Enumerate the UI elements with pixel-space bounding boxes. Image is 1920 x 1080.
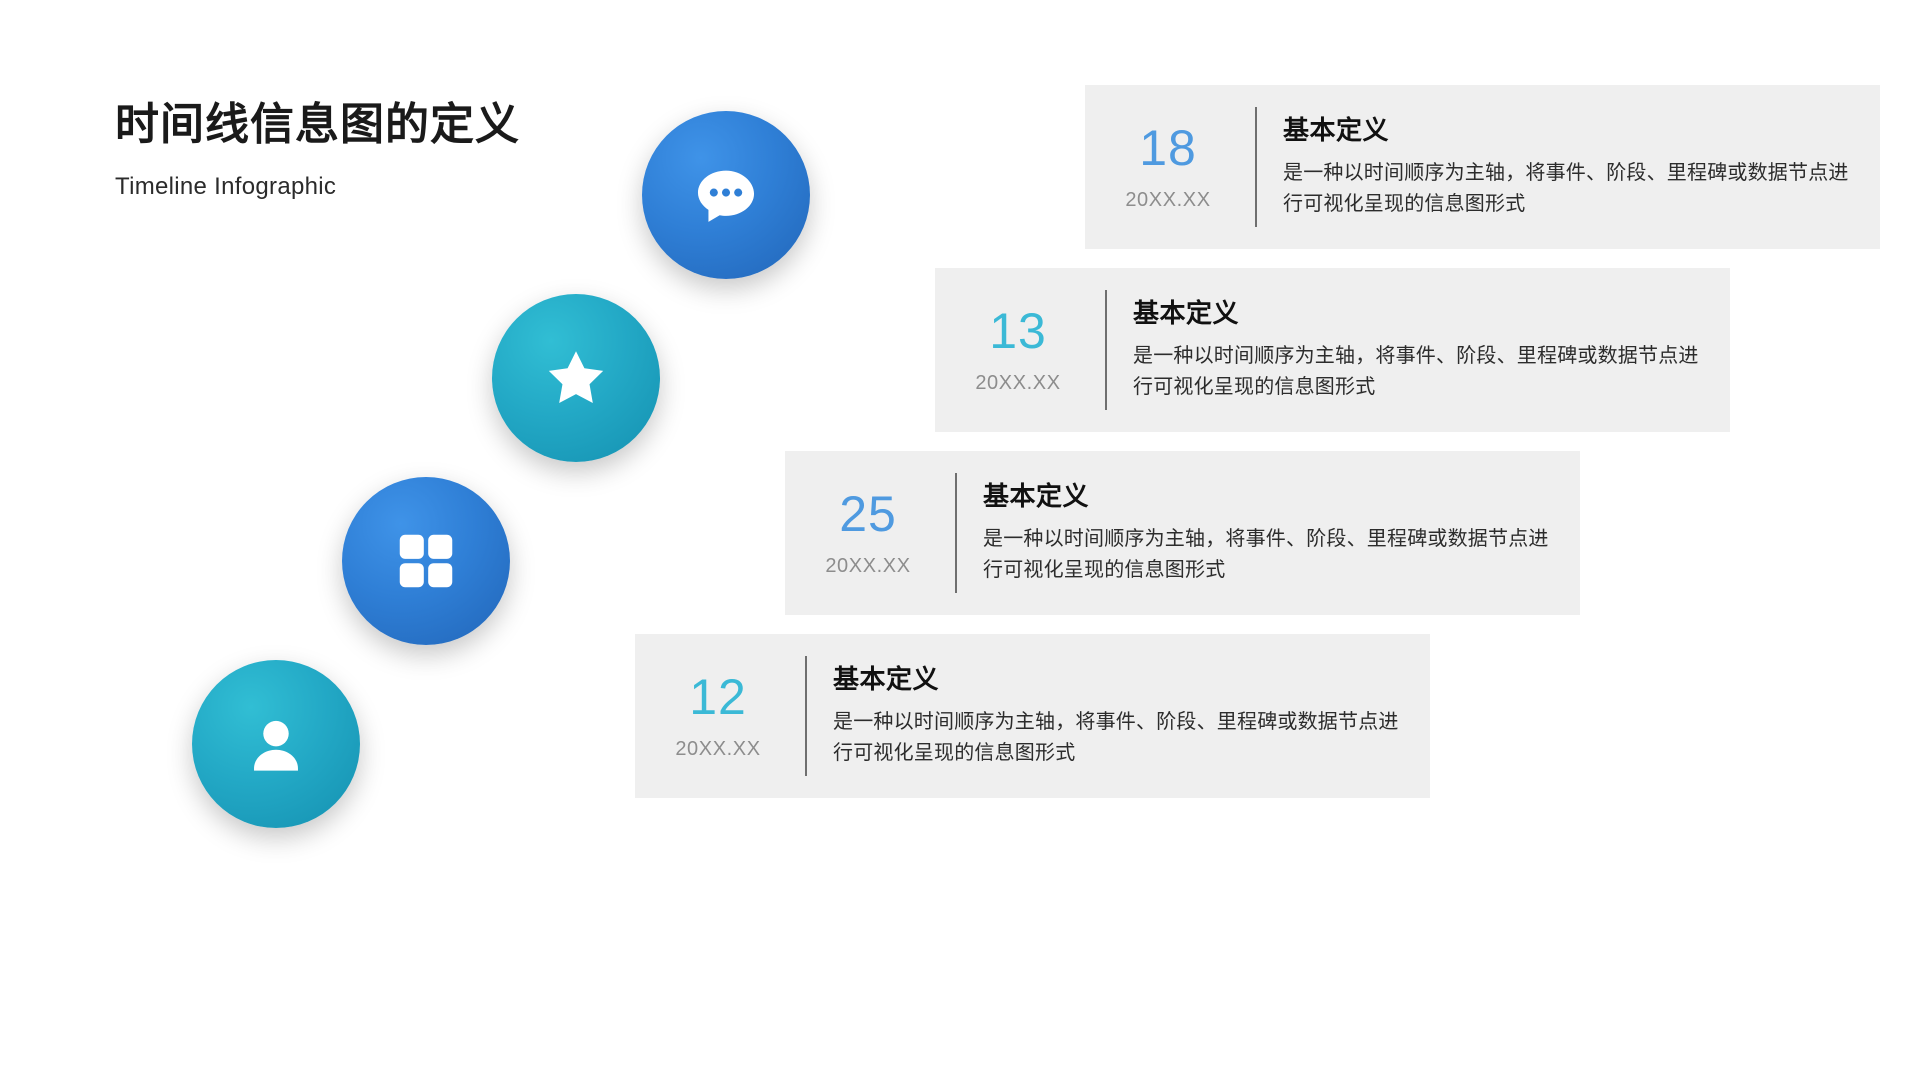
card-number: 18: [1085, 123, 1251, 173]
card-meta: 12 20XX.XX: [635, 672, 805, 761]
timeline-row: 13 20XX.XX 基本定义 是一种以时间顺序为主轴，将事件、阶段、里程碑或数…: [0, 268, 1920, 468]
card-number: 13: [935, 306, 1101, 356]
card-heading: 基本定义: [1133, 298, 1712, 329]
card-number: 25: [785, 489, 951, 539]
card-body: 是一种以时间顺序为主轴，将事件、阶段、里程碑或数据节点进行可视化呈现的信息图形式: [833, 695, 1412, 768]
timeline-card-1[interactable]: 18 20XX.XX 基本定义 是一种以时间顺序为主轴，将事件、阶段、里程碑或数…: [1085, 85, 1880, 249]
card-date: 20XX.XX: [1085, 173, 1251, 212]
card-body: 是一种以时间顺序为主轴，将事件、阶段、里程碑或数据节点进行可视化呈现的信息图形式: [1283, 146, 1862, 219]
timeline-row: 12 20XX.XX 基本定义 是一种以时间顺序为主轴，将事件、阶段、里程碑或数…: [0, 634, 1920, 834]
card-date: 20XX.XX: [635, 722, 801, 761]
chat-bubble-icon: [687, 156, 765, 234]
timeline-badge-1[interactable]: [642, 111, 810, 279]
card-meta: 25 20XX.XX: [785, 489, 955, 578]
card-number: 12: [635, 672, 801, 722]
star-icon: [537, 339, 615, 417]
card-content: 基本定义 是一种以时间顺序为主轴，将事件、阶段、里程碑或数据节点进行可视化呈现的…: [1107, 298, 1730, 402]
timeline-badge-3[interactable]: [342, 477, 510, 645]
grid-squares-icon: [391, 526, 461, 596]
card-date: 20XX.XX: [785, 539, 951, 578]
card-content: 基本定义 是一种以时间顺序为主轴，将事件、阶段、里程碑或数据节点进行可视化呈现的…: [957, 481, 1580, 585]
card-content: 基本定义 是一种以时间顺序为主轴，将事件、阶段、里程碑或数据节点进行可视化呈现的…: [1257, 115, 1880, 219]
card-meta: 13 20XX.XX: [935, 306, 1105, 395]
card-body: 是一种以时间顺序为主轴，将事件、阶段、里程碑或数据节点进行可视化呈现的信息图形式: [1133, 329, 1712, 402]
timeline-card-3[interactable]: 25 20XX.XX 基本定义 是一种以时间顺序为主轴，将事件、阶段、里程碑或数…: [785, 451, 1580, 615]
card-meta: 18 20XX.XX: [1085, 123, 1255, 212]
timeline-row: 18 20XX.XX 基本定义 是一种以时间顺序为主轴，将事件、阶段、里程碑或数…: [0, 85, 1920, 285]
timeline-badge-2[interactable]: [492, 294, 660, 462]
card-heading: 基本定义: [983, 481, 1562, 512]
timeline-row: 25 20XX.XX 基本定义 是一种以时间顺序为主轴，将事件、阶段、里程碑或数…: [0, 451, 1920, 651]
user-person-icon: [239, 707, 313, 781]
timeline-card-4[interactable]: 12 20XX.XX 基本定义 是一种以时间顺序为主轴，将事件、阶段、里程碑或数…: [635, 634, 1430, 798]
timeline-badge-4[interactable]: [192, 660, 360, 828]
card-content: 基本定义 是一种以时间顺序为主轴，将事件、阶段、里程碑或数据节点进行可视化呈现的…: [807, 664, 1430, 768]
card-body: 是一种以时间顺序为主轴，将事件、阶段、里程碑或数据节点进行可视化呈现的信息图形式: [983, 512, 1562, 585]
card-date: 20XX.XX: [935, 356, 1101, 395]
timeline-card-2[interactable]: 13 20XX.XX 基本定义 是一种以时间顺序为主轴，将事件、阶段、里程碑或数…: [935, 268, 1730, 432]
card-heading: 基本定义: [1283, 115, 1862, 146]
card-heading: 基本定义: [833, 664, 1412, 695]
